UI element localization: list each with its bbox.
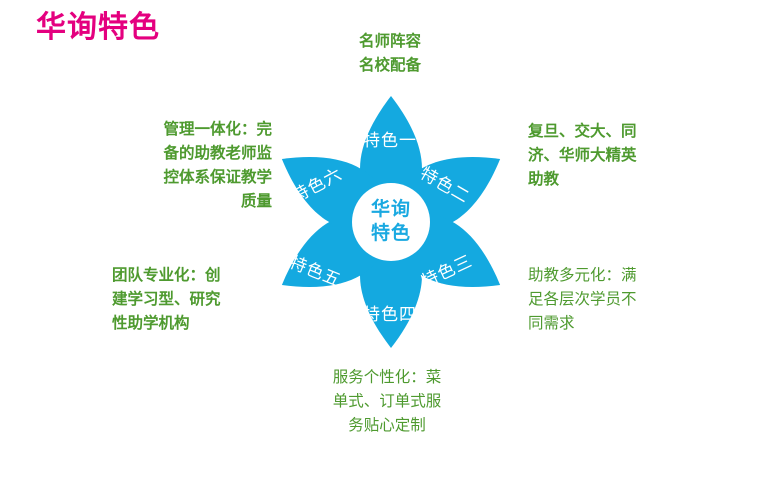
caption-line: 务贴心定制 [302,414,472,438]
caption-right-lower: 助教多元化：满 足各层次学员不 同需求 [528,264,678,336]
caption-line: 名校配备 [318,54,462,78]
caption-bottom: 服务个性化：菜 单式、订单式服 务贴心定制 [302,366,472,438]
caption-line: 助教 [528,168,678,192]
caption-line: 名师阵容 [318,30,462,54]
caption-right-upper: 复旦、交大、同 济、华师大精英 助教 [528,120,678,192]
caption-line: 备的助教老师监 [112,142,272,166]
caption-line: 助教多元化：满 [528,264,678,288]
center-label-line1: 华询 [371,198,411,222]
page-title: 华询特色 [36,10,160,46]
caption-line: 控体系保证教学 [112,166,272,190]
caption-line: 管理一体化：完 [112,118,272,142]
caption-line: 单式、订单式服 [302,390,472,414]
flower-diagram: 特色一 特色二 特色三 特色四 特色五 特色六 华询 特色 [252,80,532,365]
caption-line: 服务个性化：菜 [302,366,472,390]
caption-line: 建学习型、研究 [112,288,272,312]
caption-left-upper: 管理一体化：完 备的助教老师监 控体系保证教学 质量 [112,118,272,214]
center-label-line2: 特色 [371,222,411,246]
caption-line: 质量 [112,190,272,214]
caption-line: 性助学机构 [112,312,272,336]
caption-line: 济、华师大精英 [528,144,678,168]
caption-left-lower: 团队专业化：创 建学习型、研究 性助学机构 [112,264,272,336]
caption-line: 足各层次学员不 [528,288,678,312]
caption-top: 名师阵容 名校配备 [318,30,462,78]
flower-center-badge[interactable]: 华询 特色 [352,183,430,261]
caption-line: 团队专业化：创 [112,264,272,288]
caption-line: 同需求 [528,312,678,336]
caption-line: 复旦、交大、同 [528,120,678,144]
